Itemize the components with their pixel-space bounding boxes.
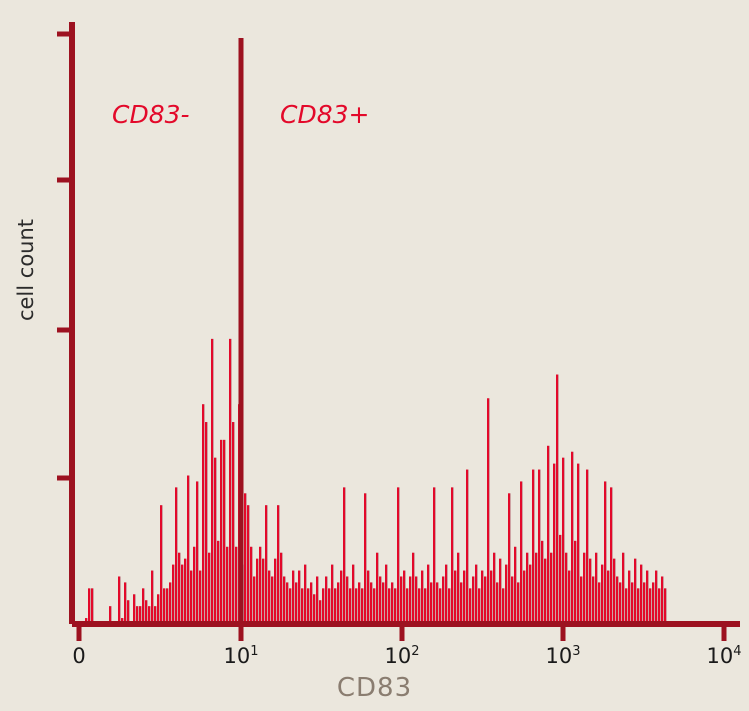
histogram-bar	[589, 559, 591, 624]
histogram-bar	[538, 470, 540, 624]
histogram-bar	[250, 547, 252, 624]
histogram-bar	[523, 571, 525, 624]
histogram-bar	[625, 588, 627, 624]
histogram-bar	[379, 576, 381, 624]
histogram-bar	[574, 541, 576, 624]
histogram-bar	[520, 481, 522, 624]
histogram-bar	[550, 553, 552, 624]
histogram-bar	[439, 588, 441, 624]
histogram-bar	[553, 464, 555, 624]
histogram-bar	[580, 576, 582, 624]
histogram-bar	[232, 422, 234, 624]
histogram-bar	[526, 553, 528, 624]
histogram-bar	[235, 547, 237, 624]
histogram-bar	[562, 458, 564, 624]
histogram-bar	[361, 588, 363, 624]
histogram-bar	[274, 559, 276, 624]
histogram-bar	[178, 553, 180, 624]
histogram-bar	[268, 571, 270, 624]
histogram-bar	[541, 541, 543, 624]
histogram-bar	[556, 375, 558, 624]
histogram-bar	[454, 571, 456, 624]
histogram-bar	[394, 588, 396, 624]
histogram-bar	[322, 588, 324, 624]
histogram-bar	[571, 452, 573, 624]
histogram-bar	[256, 559, 258, 624]
x-tick-label: 102	[384, 644, 419, 668]
histogram-bar	[652, 582, 654, 624]
histogram-bar	[283, 576, 285, 624]
histogram-bar	[568, 571, 570, 624]
histogram-bar	[478, 588, 480, 624]
x-tick-label: 101	[223, 644, 258, 668]
histogram-bar	[280, 553, 282, 624]
histogram-bar	[328, 588, 330, 624]
histogram-bar	[337, 582, 339, 624]
histogram-bar	[181, 565, 183, 624]
x-tick-label: 103	[545, 644, 580, 668]
histogram-bar	[604, 481, 606, 624]
histogram-bar	[304, 565, 306, 624]
histogram-bar	[655, 571, 657, 624]
histogram-bar	[451, 487, 453, 624]
histogram-bar	[646, 571, 648, 624]
y-axis-title: cell count	[14, 200, 38, 340]
histogram-bar	[418, 588, 420, 624]
histogram-bar	[535, 553, 537, 624]
histogram-bar	[310, 582, 312, 624]
histogram-bar	[496, 582, 498, 624]
histogram-bar	[208, 553, 210, 624]
histogram-bar	[634, 559, 636, 624]
histogram-bar	[367, 571, 369, 624]
histogram-bar	[427, 565, 429, 624]
histogram-bar	[133, 594, 135, 624]
histogram-bar	[91, 588, 93, 624]
histogram-bar	[448, 588, 450, 624]
histogram-bar	[325, 576, 327, 624]
histogram-bar	[595, 553, 597, 624]
histogram-bar	[193, 547, 195, 624]
histogram-bar	[202, 404, 204, 624]
histogram-bar	[400, 576, 402, 624]
histogram-bar	[577, 464, 579, 624]
histogram-bar	[187, 476, 189, 625]
histogram-bar	[409, 576, 411, 624]
histogram-bar	[343, 487, 345, 624]
histogram-bar	[430, 582, 432, 624]
histogram-bar	[184, 559, 186, 624]
histogram-bar	[388, 588, 390, 624]
histogram-bar	[457, 553, 459, 624]
histogram-bar	[370, 582, 372, 624]
histogram-bar	[505, 565, 507, 624]
histogram-bar	[598, 582, 600, 624]
histogram-bar	[613, 559, 615, 624]
histogram-bar	[349, 588, 351, 624]
histogram-bar	[364, 493, 366, 624]
histogram-bar	[424, 588, 426, 624]
histogram-bar	[586, 470, 588, 624]
histogram-bar	[163, 588, 165, 624]
histogram-bar	[373, 588, 375, 624]
histogram-bar	[346, 576, 348, 624]
histogram-bar	[253, 576, 255, 624]
histogram-bar	[475, 565, 477, 624]
histogram-bar	[298, 571, 300, 624]
histogram-bar	[637, 588, 639, 624]
x-tick-label: 0	[72, 644, 85, 668]
histogram-bar	[331, 565, 333, 624]
histogram-bar	[127, 600, 129, 624]
histogram-bar	[622, 553, 624, 624]
histogram-bar	[205, 422, 207, 624]
histogram-bar	[352, 565, 354, 624]
histogram-bar	[661, 576, 663, 624]
histogram-bar	[544, 559, 546, 624]
histogram-bar	[484, 576, 486, 624]
histogram-bar	[313, 594, 315, 624]
histogram-bar	[220, 440, 222, 624]
histogram-bar	[463, 571, 465, 624]
histogram-bar	[124, 582, 126, 624]
histogram-bar	[151, 571, 153, 624]
histogram-bar	[211, 339, 213, 624]
histogram-bar	[490, 571, 492, 624]
histogram-bar	[607, 571, 609, 624]
histogram-bar	[340, 571, 342, 624]
histogram-bar	[565, 553, 567, 624]
histogram-bar	[493, 553, 495, 624]
histogram-bar	[166, 588, 168, 624]
gate-label-negative: CD83-	[112, 100, 190, 129]
histogram-bar	[517, 582, 519, 624]
histogram-bar	[301, 588, 303, 624]
histogram-bars	[85, 339, 667, 624]
histogram-bar	[664, 588, 666, 624]
histogram-bar	[640, 565, 642, 624]
histogram-bar	[118, 576, 120, 624]
histogram-bar	[289, 588, 291, 624]
histogram-bar	[259, 547, 261, 624]
histogram-bar	[145, 600, 147, 624]
histogram-bar	[247, 505, 249, 624]
histogram-bar	[271, 576, 273, 624]
histogram-bar	[358, 582, 360, 624]
histogram-bar	[436, 582, 438, 624]
histogram-bar	[433, 487, 435, 624]
histogram-bar	[532, 470, 534, 624]
histogram-bar	[499, 559, 501, 624]
histogram-bar	[226, 547, 228, 624]
histogram-bar	[199, 571, 201, 624]
histogram-bar	[502, 588, 504, 624]
histogram-bar	[628, 571, 630, 624]
histogram-bar	[307, 588, 309, 624]
histogram-bar	[229, 339, 231, 624]
histogram-bar	[601, 565, 603, 624]
histogram-bar	[376, 553, 378, 624]
histogram-bar	[415, 576, 417, 624]
histogram-bar	[157, 594, 159, 624]
histogram-bar	[277, 505, 279, 624]
histogram-bar	[592, 576, 594, 624]
histogram-bar	[547, 446, 549, 624]
histogram-bar	[334, 588, 336, 624]
x-axis-title: CD83	[0, 673, 749, 703]
histogram-bar	[487, 398, 489, 624]
gate-label-positive: CD83+	[280, 100, 369, 129]
histogram-bar	[616, 576, 618, 624]
flow-cytometry-histogram: cell count CD83 CD83-CD83+ 0101102103104	[0, 0, 749, 711]
histogram-bar	[619, 582, 621, 624]
histogram-bar	[160, 505, 162, 624]
histogram-bar	[658, 588, 660, 624]
histogram-bar	[190, 571, 192, 624]
histogram-bar	[382, 582, 384, 624]
histogram-bar	[406, 588, 408, 624]
histogram-bar	[631, 582, 633, 624]
histogram-bar	[472, 576, 474, 624]
histogram-bar	[175, 487, 177, 624]
x-tick-label: 104	[706, 644, 741, 668]
histogram-bar	[466, 470, 468, 624]
histogram-bar	[460, 582, 462, 624]
histogram-bar	[514, 547, 516, 624]
histogram-bar	[217, 541, 219, 624]
histogram-bar	[391, 582, 393, 624]
histogram-bar	[559, 535, 561, 624]
histogram-bar	[643, 582, 645, 624]
histogram-bar	[385, 565, 387, 624]
histogram-bar	[412, 553, 414, 624]
histogram-bar	[583, 553, 585, 624]
histogram-bar	[508, 493, 510, 624]
histogram-bar	[469, 588, 471, 624]
histogram-bar	[511, 576, 513, 624]
histogram-bar	[397, 487, 399, 624]
histogram-bar	[244, 493, 246, 624]
histogram-bar	[286, 582, 288, 624]
histogram-bar	[169, 582, 171, 624]
histogram-bar	[316, 576, 318, 624]
histogram-bar	[649, 588, 651, 624]
histogram-bar	[442, 576, 444, 624]
histogram-bar	[445, 565, 447, 624]
histogram-bar	[172, 565, 174, 624]
histogram-bar	[529, 565, 531, 624]
histogram-bar	[196, 481, 198, 624]
histogram-bar	[295, 582, 297, 624]
histogram-bar	[292, 571, 294, 624]
histogram-bar	[265, 505, 267, 624]
histogram-bar	[142, 588, 144, 624]
histogram-bar	[223, 440, 225, 624]
histogram-bar	[481, 571, 483, 624]
histogram-bar	[403, 571, 405, 624]
histogram-bar	[214, 458, 216, 624]
histogram-bar	[421, 571, 423, 624]
histogram-bar	[88, 588, 90, 624]
histogram-bar	[262, 559, 264, 624]
histogram-bar	[610, 487, 612, 624]
histogram-bar	[319, 600, 321, 624]
histogram-bar	[355, 588, 357, 624]
